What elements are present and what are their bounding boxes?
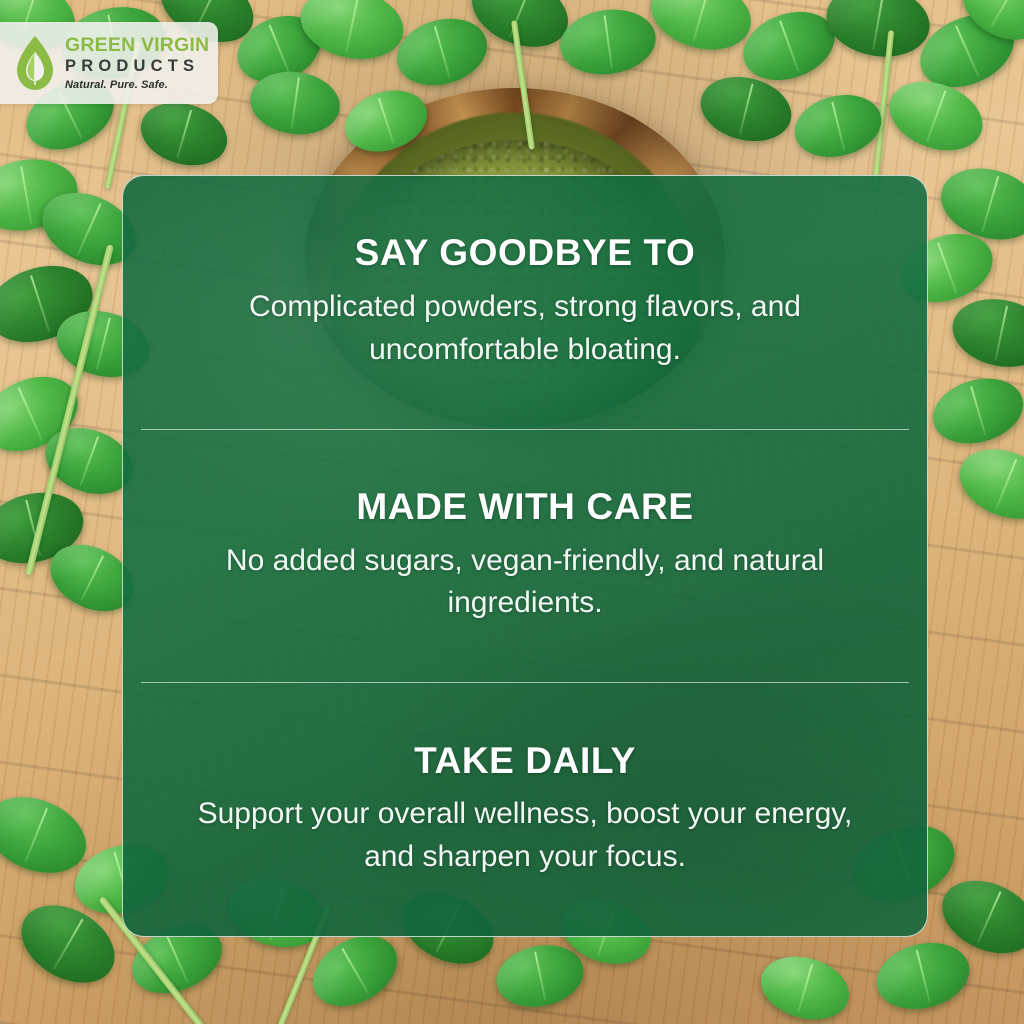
- leaf-droplet-icon: [14, 35, 56, 91]
- logo-tagline: Natural. Pure. Safe.: [65, 80, 209, 91]
- benefit-title: SAY GOODBYE TO: [355, 233, 696, 274]
- benefits-panel: SAY GOODBYE TO Complicated powders, stro…: [122, 175, 928, 937]
- logo-brand-subname: PRODUCTS: [65, 58, 209, 75]
- benefit-body: Complicated powders, strong flavors, and…: [175, 286, 875, 371]
- benefit-body: Support your overall wellness, boost you…: [175, 793, 875, 878]
- benefit-body: No added sugars, vegan-friendly, and nat…: [175, 540, 875, 625]
- benefit-title: MADE WITH CARE: [356, 487, 693, 528]
- benefit-section-3: TAKE DAILY Support your overall wellness…: [123, 683, 927, 936]
- brand-logo-badge[interactable]: GREEN VIRGIN PRODUCTS Natural. Pure. Saf…: [0, 22, 218, 104]
- benefit-section-1: SAY GOODBYE TO Complicated powders, stro…: [123, 176, 927, 429]
- logo-brand-name: GREEN VIRGIN: [65, 36, 209, 56]
- benefit-section-2: MADE WITH CARE No added sugars, vegan-fr…: [123, 430, 927, 683]
- logo-text-block: GREEN VIRGIN PRODUCTS Natural. Pure. Saf…: [65, 36, 209, 91]
- benefit-title: TAKE DAILY: [414, 741, 636, 782]
